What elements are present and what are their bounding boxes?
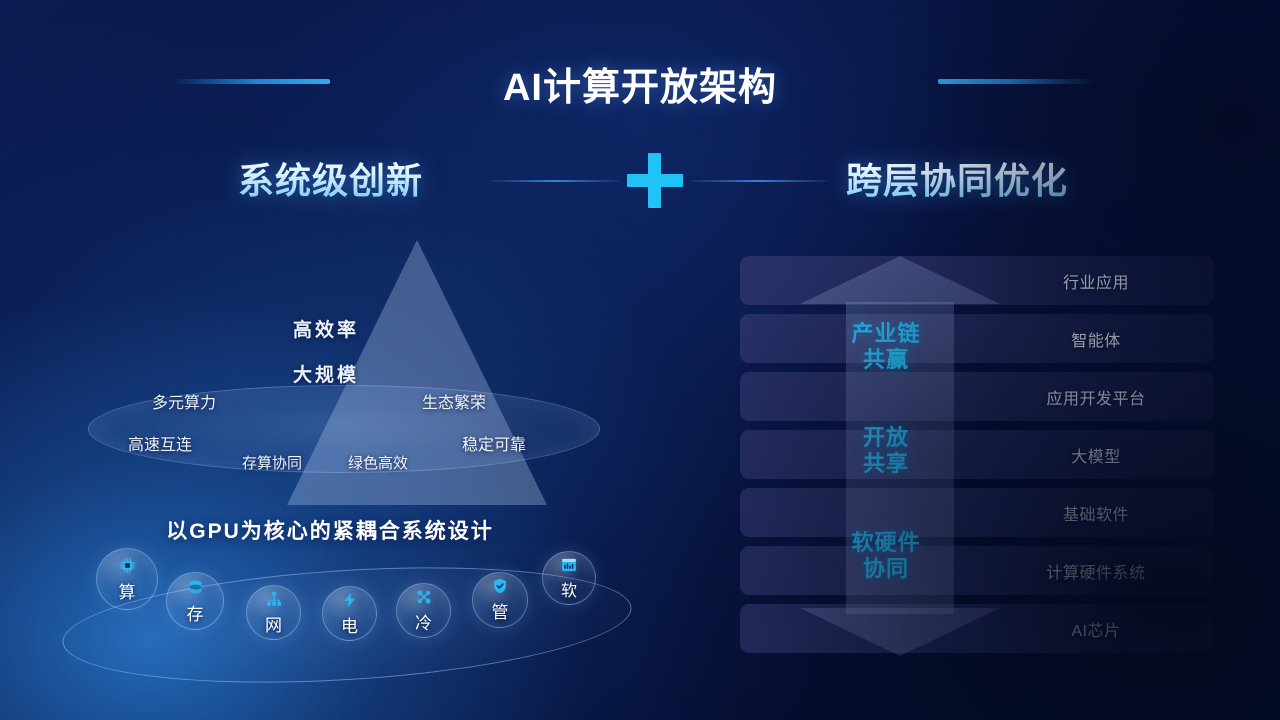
capability-bubble-冷[interactable]: 冷: [396, 583, 451, 638]
pyramid-upper-label-left: 多元算力: [152, 389, 216, 413]
pyramid-diagram: 高效率 大规模 多元算力 生态繁荣 高速互连 稳定可靠 存算协同 绿色高效: [60, 235, 660, 485]
capability-bubble-软[interactable]: 软: [542, 551, 596, 605]
capability-bubble-label: 软: [561, 577, 577, 601]
network-sitemap-icon: [265, 590, 283, 608]
pyramid-base-label-left: 存算协同: [242, 452, 302, 473]
capability-bubble-存[interactable]: 存: [166, 572, 224, 630]
plus-icon: [627, 152, 683, 208]
capability-bubble-label: 网: [265, 611, 282, 636]
stack-row[interactable]: 应用开发平台: [740, 372, 1214, 421]
software-window-icon: [560, 556, 578, 574]
subtitle-connector-line-left: [490, 180, 620, 182]
title-rule-right-icon: [938, 79, 1096, 84]
capability-bubble-label: 冷: [415, 609, 432, 634]
pyramid-base-label-right: 绿色高效: [348, 452, 408, 473]
pyramid-apex-label-1: 高效率: [293, 315, 359, 342]
stack-row[interactable]: 行业应用: [740, 256, 1214, 305]
slide-canvas: AI计算开放架构 系统级创新 跨层协同优化 高效率 大规模 多元算力 生态繁荣 …: [0, 0, 1280, 720]
pyramid-mid-label-right: 稳定可靠: [462, 431, 526, 455]
capability-bubble-管[interactable]: 管: [472, 572, 528, 628]
stack-row-label: 智能体: [978, 327, 1214, 351]
capability-bubble-label: 管: [492, 598, 509, 623]
stack-row-label: 计算硬件系统: [978, 559, 1214, 583]
stack-row-label: AI芯片: [978, 617, 1214, 641]
pyramid-apex-label-2: 大规模: [293, 360, 359, 387]
capability-bubble-网[interactable]: 网: [246, 585, 301, 640]
pyramid-upper-label-right: 生态繁荣: [422, 389, 486, 413]
stack-row-label: 行业应用: [978, 269, 1214, 293]
subtitle-connector-line-right: [690, 180, 828, 182]
subtitle-left: 系统级创新: [238, 152, 423, 204]
capability-bubble-label: 电: [341, 612, 358, 637]
capability-bubble-电[interactable]: 电: [322, 586, 377, 641]
subtitle-right: 跨层协同优化: [846, 152, 1068, 204]
lightning-bolt-icon: [341, 591, 359, 609]
shield-check-icon: [491, 577, 509, 595]
gpu-caption: 以GPU为核心的紧耦合系统设计: [0, 515, 660, 545]
molecule-nodes-icon: [415, 588, 433, 606]
capability-bubble-算[interactable]: 算: [96, 548, 158, 610]
database-icon: [186, 578, 205, 597]
stack-row-label: 大模型: [978, 443, 1214, 467]
cpu-chip-icon: [118, 556, 137, 575]
capability-bubble-label: 存: [187, 600, 204, 625]
stack-tag: 产业链 共赢: [798, 321, 974, 373]
stack-row[interactable]: AI芯片: [740, 604, 1214, 653]
stack-row-label: 基础软件: [978, 501, 1214, 525]
pyramid-mid-label-left: 高速互连: [128, 431, 192, 455]
stack-row-label: 应用开发平台: [978, 385, 1214, 409]
stack-tag: 开放 共享: [798, 425, 974, 477]
capability-bubble-label: 算: [119, 578, 136, 603]
stack-tag: 软硬件 协同: [798, 530, 974, 582]
